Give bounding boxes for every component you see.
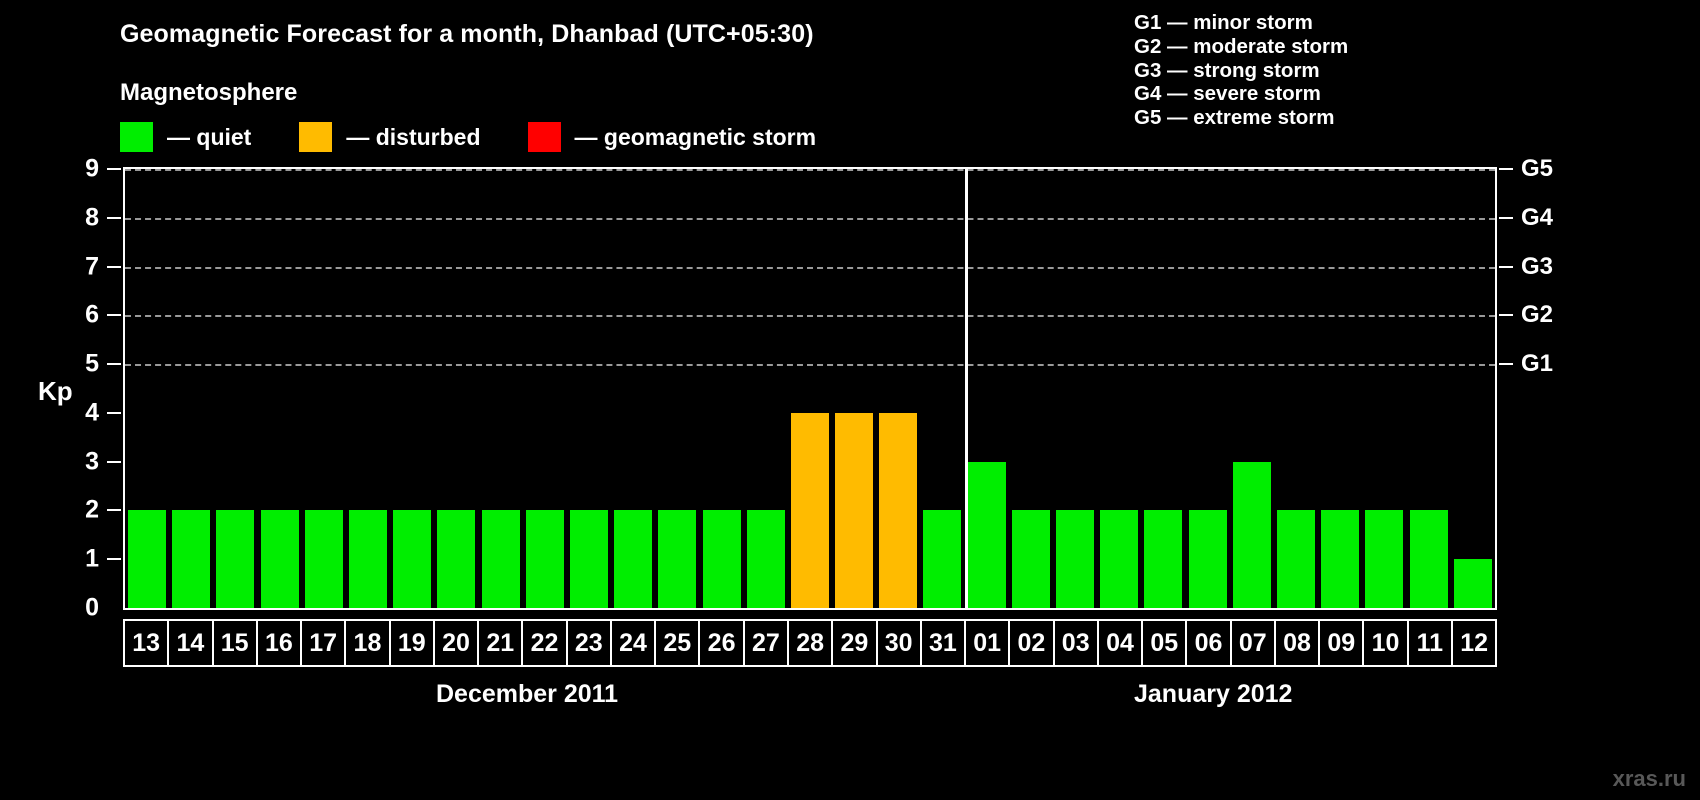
bar-cell xyxy=(213,169,257,608)
bar-12-kp-1[interactable] xyxy=(1454,559,1492,608)
bar-29-kp-4[interactable] xyxy=(835,413,873,608)
bar-07-kp-3[interactable] xyxy=(1233,462,1271,608)
day-label-28[interactable]: 28 xyxy=(787,619,833,667)
bar-cell xyxy=(920,169,964,608)
legend-label-quiet: — quiet xyxy=(167,124,251,151)
day-label-24[interactable]: 24 xyxy=(610,619,656,667)
g-tick-label-G5: G5 xyxy=(1521,155,1553,183)
gridline-kp-7 xyxy=(125,267,1495,269)
bar-cell xyxy=(523,169,567,608)
bar-30-kp-4[interactable] xyxy=(879,413,917,608)
bar-cell xyxy=(832,169,876,608)
y-tick-label-5: 5 xyxy=(85,350,99,379)
g-tick-mark-G4 xyxy=(1499,217,1513,219)
bar-cell xyxy=(1097,169,1141,608)
bar-cell xyxy=(125,169,169,608)
bar-13-kp-2[interactable] xyxy=(128,510,166,608)
bar-31-kp-2[interactable] xyxy=(923,510,961,608)
bar-cell xyxy=(1274,169,1318,608)
y-tick-mark-4 xyxy=(107,412,121,414)
bar-24-kp-2[interactable] xyxy=(614,510,652,608)
legend-label-disturbed: — disturbed xyxy=(346,124,480,151)
bar-20-kp-2[interactable] xyxy=(437,510,475,608)
bar-18-kp-2[interactable] xyxy=(349,510,387,608)
legend-label-storm: — geomagnetic storm xyxy=(575,124,817,151)
bar-cell xyxy=(479,169,523,608)
month-divider xyxy=(965,169,968,608)
bar-28-kp-4[interactable] xyxy=(791,413,829,608)
day-label-15[interactable]: 15 xyxy=(212,619,258,667)
bar-cell xyxy=(567,169,611,608)
bar-14-kp-2[interactable] xyxy=(172,510,210,608)
y-tick-mark-2 xyxy=(107,509,121,511)
bar-04-kp-2[interactable] xyxy=(1100,510,1138,608)
bar-17-kp-2[interactable] xyxy=(305,510,343,608)
bar-11-kp-2[interactable] xyxy=(1410,510,1448,608)
bar-02-kp-2[interactable] xyxy=(1012,510,1050,608)
g-tick-label-G4: G4 xyxy=(1521,204,1553,232)
day-label-11[interactable]: 11 xyxy=(1407,619,1453,667)
gridline-kp-9 xyxy=(125,169,1495,171)
day-label-04[interactable]: 04 xyxy=(1097,619,1143,667)
bar-10-kp-2[interactable] xyxy=(1365,510,1403,608)
bar-26-kp-2[interactable] xyxy=(703,510,741,608)
day-label-07[interactable]: 07 xyxy=(1230,619,1276,667)
g-scale-legend: G1 — minor stormG2 — moderate stormG3 — … xyxy=(1134,11,1348,130)
x-axis-day-labels: 1314151617181920212223242526272829303101… xyxy=(123,619,1497,667)
day-label-29[interactable]: 29 xyxy=(831,619,877,667)
bar-05-kp-2[interactable] xyxy=(1144,510,1182,608)
bar-22-kp-2[interactable] xyxy=(526,510,564,608)
y-tick-label-1: 1 xyxy=(85,545,99,574)
bar-08-kp-2[interactable] xyxy=(1277,510,1315,608)
day-label-14[interactable]: 14 xyxy=(167,619,213,667)
bar-23-kp-2[interactable] xyxy=(570,510,608,608)
day-label-23[interactable]: 23 xyxy=(566,619,612,667)
day-label-13[interactable]: 13 xyxy=(123,619,169,667)
g-tick-mark-G5 xyxy=(1499,168,1513,170)
bar-cell xyxy=(788,169,832,608)
day-label-20[interactable]: 20 xyxy=(433,619,479,667)
day-label-06[interactable]: 06 xyxy=(1185,619,1231,667)
g-legend-line-3: G3 — strong storm xyxy=(1134,59,1348,83)
g-tick-mark-G3 xyxy=(1499,266,1513,268)
g-legend-line-1: G1 — minor storm xyxy=(1134,11,1348,35)
bar-15-kp-2[interactable] xyxy=(216,510,254,608)
day-label-05[interactable]: 05 xyxy=(1141,619,1187,667)
day-label-02[interactable]: 02 xyxy=(1008,619,1054,667)
bar-cell xyxy=(611,169,655,608)
y-tick-label-2: 2 xyxy=(85,496,99,525)
g-tick-label-G2: G2 xyxy=(1521,301,1553,329)
bar-cell xyxy=(1362,169,1406,608)
day-label-27[interactable]: 27 xyxy=(743,619,789,667)
bar-27-kp-2[interactable] xyxy=(747,510,785,608)
y-tick-mark-1 xyxy=(107,558,121,560)
bar-01-kp-3[interactable] xyxy=(968,462,1006,608)
y-tick-label-9: 9 xyxy=(85,155,99,184)
g-tick-label-G1: G1 xyxy=(1521,350,1553,378)
g-axis: G1G2G3G4G5 xyxy=(1497,167,1617,610)
bar-cell xyxy=(169,169,213,608)
y-tick-label-6: 6 xyxy=(85,301,99,330)
y-tick-label-7: 7 xyxy=(85,252,99,281)
y-tick-mark-8 xyxy=(107,217,121,219)
day-label-17[interactable]: 17 xyxy=(300,619,346,667)
day-label-01[interactable]: 01 xyxy=(964,619,1010,667)
day-label-08[interactable]: 08 xyxy=(1274,619,1320,667)
y-tick-mark-6 xyxy=(107,314,121,316)
legend-swatch-storm-icon xyxy=(528,122,561,152)
g-tick-mark-G2 xyxy=(1499,314,1513,316)
legend-item-disturbed: — disturbed xyxy=(299,122,480,152)
bar-cell xyxy=(876,169,920,608)
bar-cell xyxy=(258,169,302,608)
bar-cell xyxy=(1318,169,1362,608)
day-label-19[interactable]: 19 xyxy=(389,619,435,667)
bar-cell xyxy=(1009,169,1053,608)
g-legend-line-2: G2 — moderate storm xyxy=(1134,35,1348,59)
bar-21-kp-2[interactable] xyxy=(482,510,520,608)
day-label-31[interactable]: 31 xyxy=(920,619,966,667)
bar-06-kp-2[interactable] xyxy=(1189,510,1227,608)
bar-cell xyxy=(655,169,699,608)
bar-cell xyxy=(699,169,743,608)
g-legend-line-5: G5 — extreme storm xyxy=(1134,106,1348,130)
y-tick-label-3: 3 xyxy=(85,447,99,476)
y-tick-label-0: 0 xyxy=(85,594,99,623)
bar-cell xyxy=(1053,169,1097,608)
day-label-09[interactable]: 09 xyxy=(1318,619,1364,667)
legend-item-quiet: — quiet xyxy=(120,122,251,152)
bar-cell xyxy=(744,169,788,608)
bar-16-kp-2[interactable] xyxy=(261,510,299,608)
day-label-26[interactable]: 26 xyxy=(698,619,744,667)
legend-swatch-disturbed-icon xyxy=(299,122,332,152)
y-tick-mark-3 xyxy=(107,461,121,463)
bar-cell xyxy=(302,169,346,608)
y-tick-mark-9 xyxy=(107,168,121,170)
month-label-december: December 2011 xyxy=(436,680,618,709)
watermark: xras.ru xyxy=(1613,766,1686,792)
day-label-03[interactable]: 03 xyxy=(1053,619,1099,667)
day-label-10[interactable]: 10 xyxy=(1362,619,1408,667)
gridline-kp-8 xyxy=(125,218,1495,220)
bar-19-kp-2[interactable] xyxy=(393,510,431,608)
y-tick-mark-7 xyxy=(107,266,121,268)
bar-cell xyxy=(346,169,390,608)
chart-title: Geomagnetic Forecast for a month, Dhanba… xyxy=(120,20,814,49)
g-tick-label-G3: G3 xyxy=(1521,253,1553,281)
y-tick-label-4: 4 xyxy=(85,398,99,427)
y-tick-label-8: 8 xyxy=(85,203,99,232)
magnetosphere-legend: — quiet— disturbed— geomagnetic storm xyxy=(120,122,816,152)
bar-cell xyxy=(434,169,478,608)
bar-cell xyxy=(1406,169,1450,608)
bar-cell xyxy=(1451,169,1495,608)
y-tick-mark-5 xyxy=(107,363,121,365)
plot-inner xyxy=(125,169,1495,608)
bar-03-kp-2[interactable] xyxy=(1056,510,1094,608)
g-legend-line-4: G4 — severe storm xyxy=(1134,82,1348,106)
day-label-22[interactable]: 22 xyxy=(521,619,567,667)
bar-25-kp-2[interactable] xyxy=(658,510,696,608)
legend-swatch-quiet-icon xyxy=(120,122,153,152)
day-label-25[interactable]: 25 xyxy=(654,619,700,667)
legend-item-storm: — geomagnetic storm xyxy=(528,122,817,152)
bar-cell xyxy=(965,169,1009,608)
bar-series xyxy=(125,169,1495,608)
day-label-16[interactable]: 16 xyxy=(256,619,302,667)
magnetosphere-label: Magnetosphere xyxy=(120,79,297,107)
g-tick-mark-G1 xyxy=(1499,363,1513,365)
day-label-21[interactable]: 21 xyxy=(477,619,523,667)
month-label-january: January 2012 xyxy=(1134,680,1292,709)
day-label-12[interactable]: 12 xyxy=(1451,619,1497,667)
bar-09-kp-2[interactable] xyxy=(1321,510,1359,608)
bar-cell xyxy=(390,169,434,608)
gridline-kp-6 xyxy=(125,315,1495,317)
bar-cell xyxy=(1230,169,1274,608)
plot-area xyxy=(123,167,1497,610)
bar-cell xyxy=(1186,169,1230,608)
day-label-18[interactable]: 18 xyxy=(344,619,390,667)
day-label-30[interactable]: 30 xyxy=(876,619,922,667)
bar-cell xyxy=(1141,169,1185,608)
gridline-kp-5 xyxy=(125,364,1495,366)
y-axis: 0123456789 xyxy=(0,167,123,610)
